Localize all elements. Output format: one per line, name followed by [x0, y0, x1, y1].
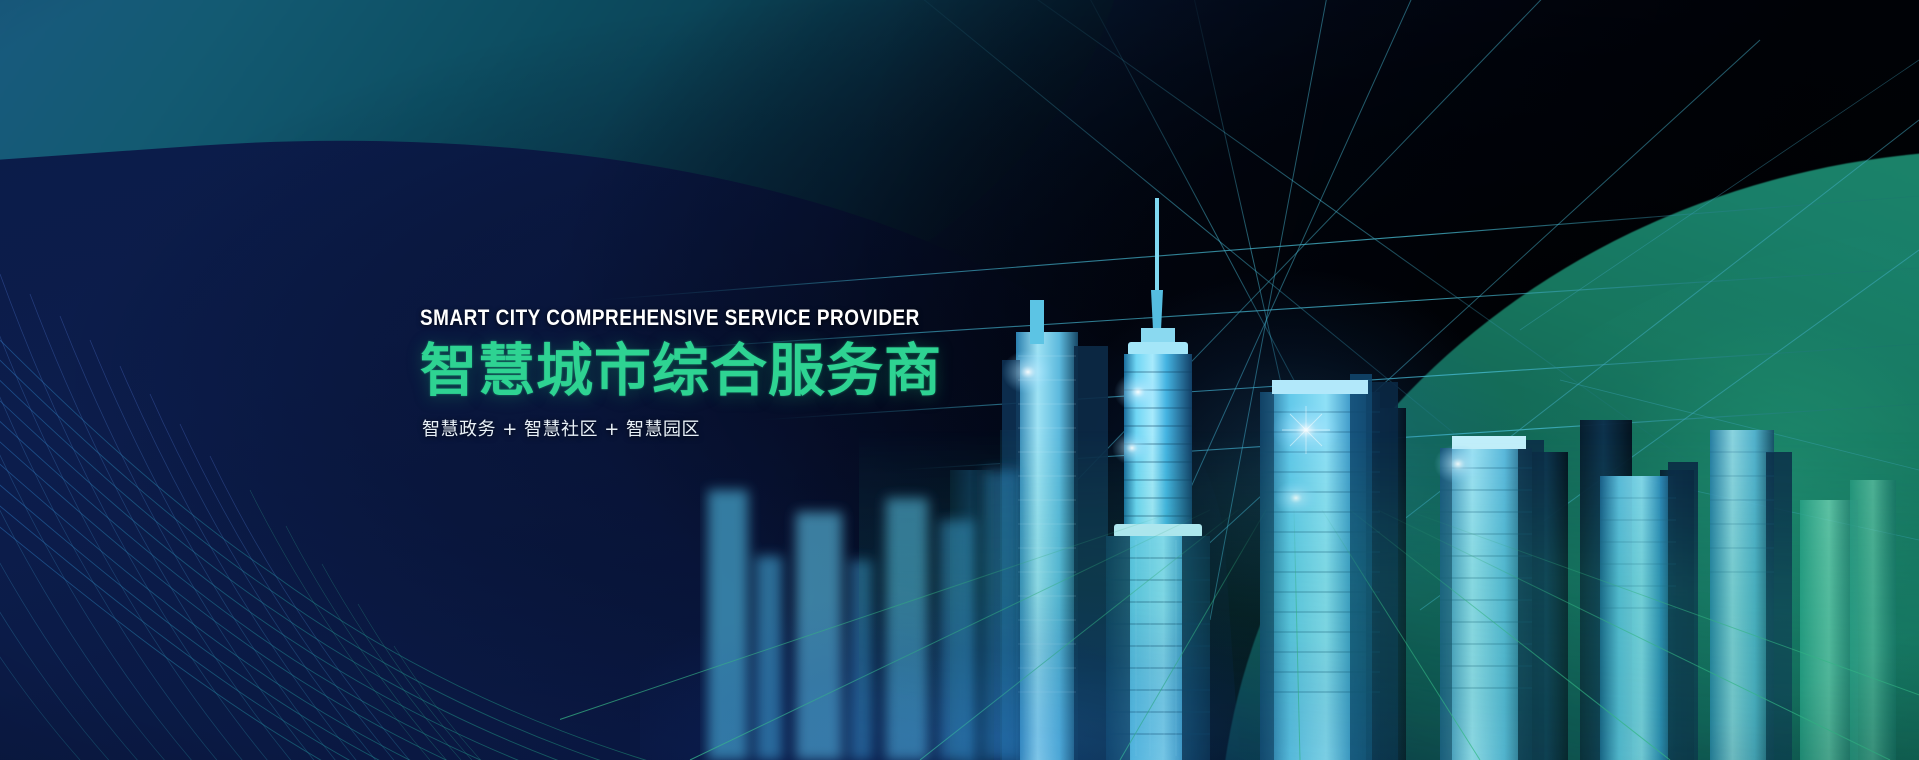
hero-copy-block: SMART CITY COMPREHENSIVE SERVICE PROVIDE…: [420, 305, 1001, 441]
green-ground-tint: [859, 430, 1919, 760]
hero-subline: 智慧政务 + 智慧社区 + 智慧园区: [422, 415, 1001, 441]
hero-headline: 智慧城市综合服务商: [420, 341, 1001, 401]
hero-eyebrow: SMART CITY COMPREHENSIVE SERVICE PROVIDE…: [420, 305, 920, 331]
smart-city-hero-banner: SMART CITY COMPREHENSIVE SERVICE PROVIDE…: [0, 0, 1919, 760]
